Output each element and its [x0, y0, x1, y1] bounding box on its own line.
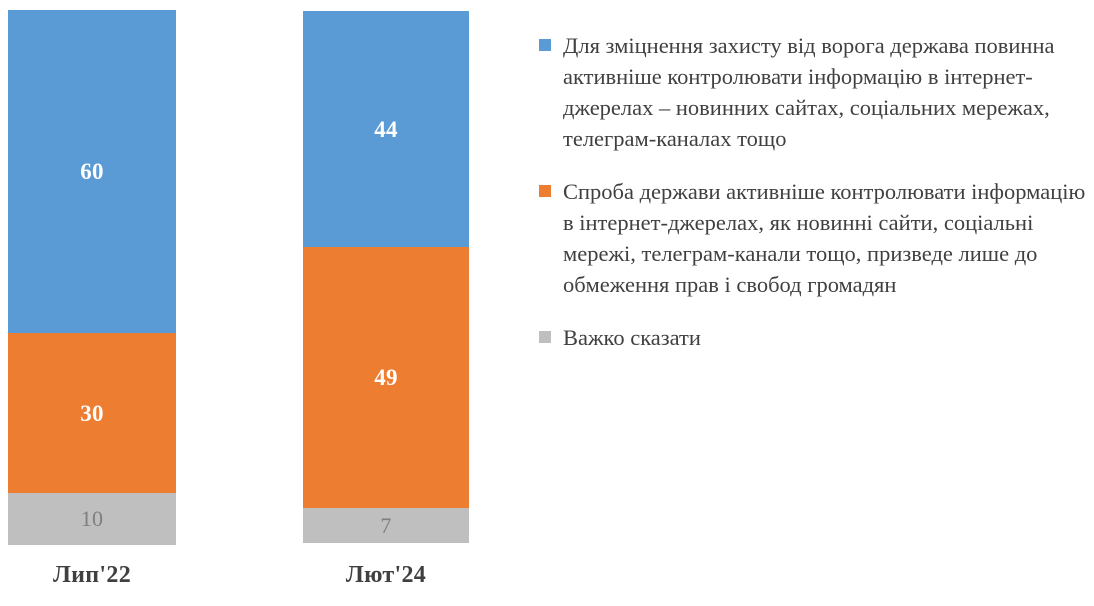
- bar-segment-1-series-2[interactable]: 30: [8, 333, 176, 493]
- bar-segment-2-series-3[interactable]: 7: [303, 508, 469, 543]
- legend-item-series-2[interactable]: Спроба держави активніше контролювати ін…: [537, 176, 1089, 300]
- legend-swatch-icon: [539, 39, 551, 51]
- bar-stack-2[interactable]: 44 49 7: [303, 11, 469, 543]
- category-label-2: Лют'24: [303, 562, 469, 589]
- legend-item-label: Спроба держави активніше контролювати ін…: [563, 176, 1089, 300]
- legend-item-label: Для зміцнення захисту від ворога держава…: [563, 30, 1089, 154]
- legend-swatch-icon: [539, 331, 551, 343]
- bar-value-label: 7: [380, 515, 391, 537]
- bar-value-label: 10: [81, 508, 103, 530]
- stacked-bar-chart: 60 30 10 Лип'22 44 49 7: [0, 0, 1094, 606]
- bar-stack-1[interactable]: 60 30 10: [8, 10, 176, 545]
- category-label-1: Лип'22: [8, 562, 176, 589]
- bar-value-label: 49: [374, 366, 397, 389]
- bar-value-label: 44: [374, 118, 397, 141]
- legend-item-series-1[interactable]: Для зміцнення захисту від ворога держава…: [537, 30, 1089, 154]
- bar-group-2: 44 49 7 Лют'24: [303, 0, 469, 606]
- bar-segment-1-series-3[interactable]: 10: [8, 493, 176, 545]
- bar-group-1: 60 30 10 Лип'22: [8, 0, 176, 606]
- legend-item-series-3[interactable]: Важко сказати: [537, 322, 1089, 353]
- bar-segment-2-series-2[interactable]: 49: [303, 247, 469, 508]
- bar-segment-1-series-1[interactable]: 60: [8, 10, 176, 333]
- chart-legend: Для зміцнення захисту від ворога держава…: [537, 30, 1089, 353]
- bar-value-label: 60: [80, 160, 103, 183]
- legend-item-label: Важко сказати: [563, 322, 1089, 353]
- bar-segment-2-series-1[interactable]: 44: [303, 11, 469, 247]
- plot-area: 60 30 10 Лип'22 44 49 7: [0, 0, 520, 606]
- bar-value-label: 30: [80, 402, 103, 425]
- legend-swatch-icon: [539, 185, 551, 197]
